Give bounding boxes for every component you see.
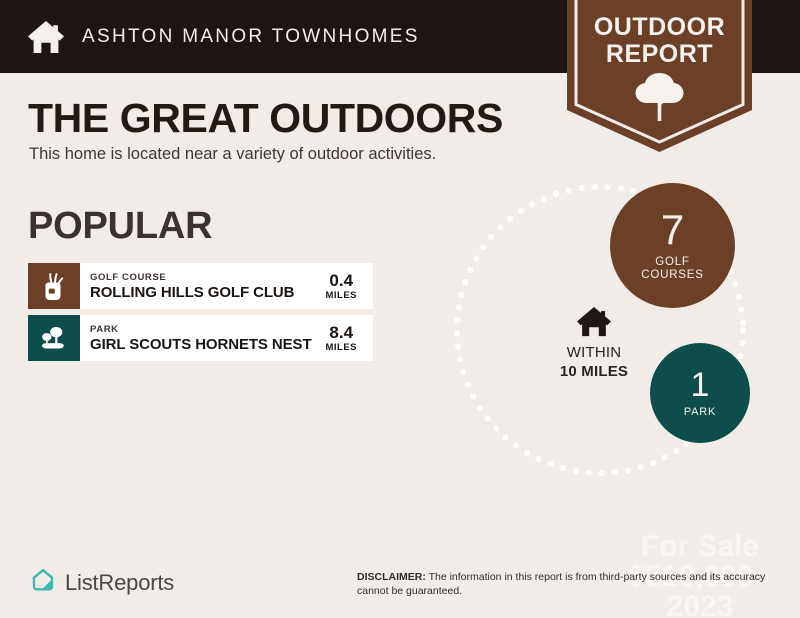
list-item-distance: 8.4 MILES [317, 323, 367, 353]
list-item[interactable]: GOLF COURSE ROLLING HILLS GOLF CLUB 0.4 … [28, 263, 373, 309]
home-icon [575, 325, 613, 342]
list-item-category: GOLF COURSE [90, 272, 317, 284]
within-line-2: 10 MILES [534, 362, 654, 381]
list-item-body: PARK GIRL SCOUTS HORNETS NEST 8.4 MILES [80, 315, 373, 361]
list-item-name: GIRL SCOUTS HORNETS NEST [90, 336, 317, 353]
popular-heading: POPULAR [28, 205, 212, 248]
disclaimer-label: DISCLAIMER: [357, 571, 426, 583]
home-icon [24, 15, 68, 59]
summary-count: 1 [691, 368, 710, 402]
listreports-house-icon [30, 567, 56, 598]
list-item-category: PARK [90, 324, 317, 336]
property-name: ASHTON MANOR TOWNHOMES [82, 26, 420, 48]
page-title: THE GREAT OUTDOORS [28, 95, 503, 142]
list-item[interactable]: PARK GIRL SCOUTS HORNETS NEST 8.4 MILES [28, 315, 373, 361]
page-subtitle: This home is located near a variety of o… [29, 145, 436, 164]
distance-unit: MILES [325, 290, 357, 301]
distance-value: 8.4 [325, 323, 357, 342]
summary-diagram: 7 GOLF COURSES 1 PARK WITHIN 10 MILES [440, 178, 800, 498]
outdoor-report-badge: OUTDOOR REPORT [567, 0, 752, 152]
disclaimer: DISCLAIMER: The information in this repo… [357, 571, 782, 598]
outdoor-report-page: ASHTON MANOR TOWNHOMES OUTDOOR REPORT TH… [0, 0, 800, 618]
distance-unit: MILES [325, 342, 357, 353]
summary-count: 7 [661, 209, 684, 251]
list-item-body: GOLF COURSE ROLLING HILLS GOLF CLUB 0.4 … [80, 263, 373, 309]
popular-list: GOLF COURSE ROLLING HILLS GOLF CLUB 0.4 … [28, 263, 373, 367]
summary-label-line-2: COURSES [641, 269, 703, 282]
summary-label: GOLF COURSES [641, 256, 703, 282]
summary-circle-golf-courses: 7 GOLF COURSES [610, 183, 735, 308]
within-radius-block: WITHIN 10 MILES [534, 306, 654, 381]
summary-label: PARK [684, 406, 716, 419]
listreports-logo-text: ListReports [65, 570, 174, 596]
list-item-distance: 0.4 MILES [317, 271, 367, 301]
summary-label-line-1: GOLF [641, 256, 703, 269]
tree-bush-icon [28, 315, 80, 361]
summary-circle-parks: 1 PARK [650, 343, 750, 443]
list-item-name: ROLLING HILLS GOLF CLUB [90, 284, 317, 301]
listreports-logo[interactable]: ListReports [30, 567, 174, 598]
within-line-1: WITHIN [534, 343, 654, 362]
summary-label-line-1: PARK [684, 406, 716, 419]
watermark-line-1: For Sale [600, 532, 800, 562]
distance-value: 0.4 [325, 271, 357, 290]
golf-bag-icon [28, 263, 80, 309]
